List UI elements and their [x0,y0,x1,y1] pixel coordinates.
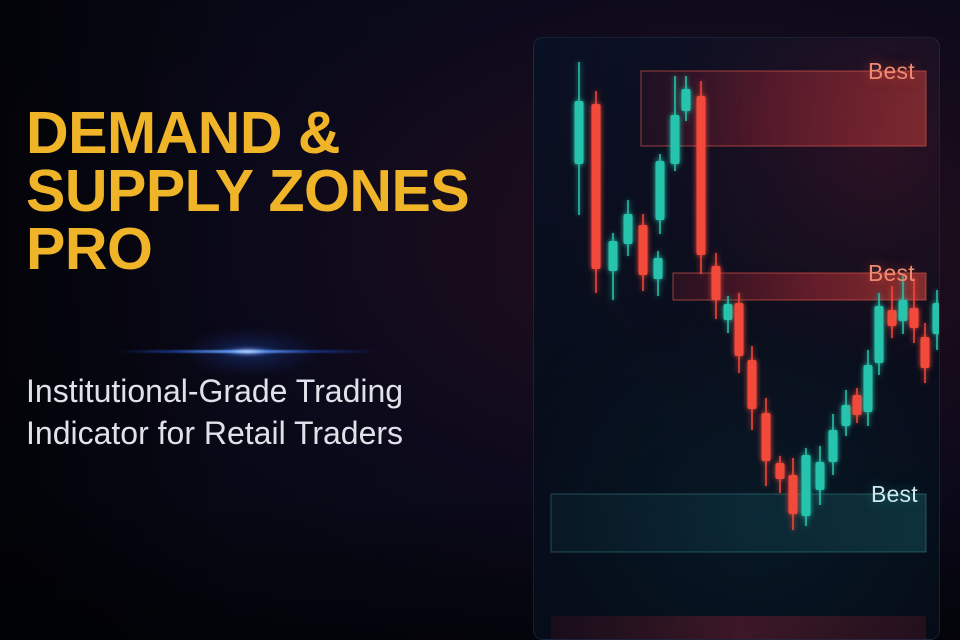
candle [864,350,873,426]
candle [656,154,665,234]
candle-body [762,413,771,461]
candle-body [875,306,884,363]
poster-canvas: DEMAND & SUPPLY ZONES PRO Institutional-… [0,0,960,640]
page-subtitle: Institutional-Grade Trading Indicator fo… [26,370,546,454]
candle-body [712,266,721,300]
candle-body [609,241,618,271]
candle-body [910,308,919,328]
candle-body [671,115,680,164]
page-title: DEMAND & SUPPLY ZONES PRO [26,104,536,278]
candle [575,62,584,215]
candle [933,290,941,350]
candle-body [789,475,798,514]
candle-body [592,104,601,269]
supply-zone-3-partial [551,616,926,640]
candle [654,251,663,296]
candle [875,293,884,375]
candle [776,456,785,493]
candle [624,200,633,256]
candle-body [682,89,691,111]
candle-body [654,258,663,279]
left-vignette [0,0,240,640]
candle-body [575,101,584,164]
candle [853,388,862,423]
flare-halo [180,330,320,374]
candle-body [864,365,873,412]
candle-body [829,430,838,462]
candle-body [639,225,648,275]
candle [724,296,733,333]
candle-body [624,214,633,244]
candle-body [776,463,785,479]
candle-body [816,462,825,490]
candle-body [933,303,941,334]
candle [697,81,706,274]
candle [762,398,771,486]
candle [802,448,811,526]
flare-core [218,347,278,356]
supply-zone-1-label: Best [868,58,915,85]
supply-zone-2-label: Best [868,260,915,287]
candlestick-chart-svg [534,38,940,640]
candle-body [853,395,862,415]
candle-body [735,303,744,356]
candle-body [748,360,757,409]
demand-zone-1-label: Best [871,481,918,508]
candle [609,233,618,300]
lens-flare-decoration [118,344,378,360]
candle [842,390,851,436]
candle [639,214,648,291]
demand-zone-1 [551,494,926,552]
candle-body [724,304,733,320]
candle [592,91,601,293]
candle-body [802,455,811,516]
hero-text-block: DEMAND & SUPPLY ZONES PRO [26,104,536,278]
candle-body [697,96,706,255]
candle-body [656,161,665,220]
candle [712,253,721,319]
candle-body [921,337,930,368]
flare-beam [118,350,378,353]
candle-body [899,300,908,321]
candle [921,323,930,383]
candlestick-chart-panel: BestBestBest [533,37,940,640]
candle [829,414,838,475]
candle-body [842,405,851,426]
candle-body [888,310,897,326]
candle [748,346,757,430]
candle [735,293,744,373]
